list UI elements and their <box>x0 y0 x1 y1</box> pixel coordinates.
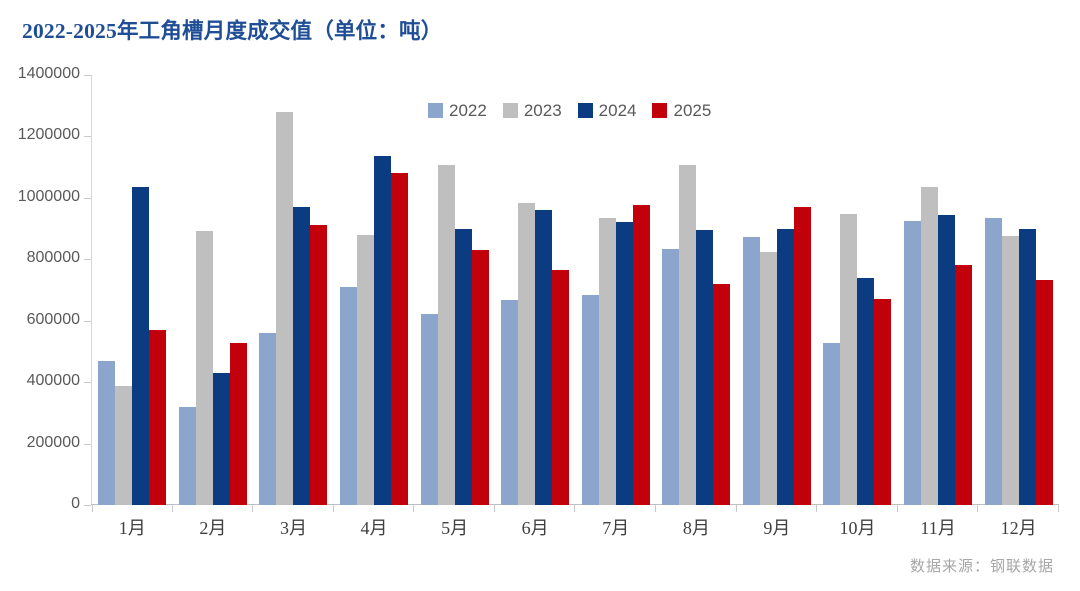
y-tick-mark <box>84 382 91 383</box>
bar-group-4月 <box>334 75 415 505</box>
x-axis-label-12月: 12月 <box>978 514 1059 540</box>
bar-2022-4月[interactable] <box>340 287 357 505</box>
y-tick-label: 1400000 <box>0 65 80 83</box>
bar-2023-3月[interactable] <box>276 112 293 505</box>
bar-2025-5月[interactable] <box>472 250 489 505</box>
bar-group-7月 <box>575 75 656 505</box>
y-tick-mark <box>84 444 91 445</box>
chart-container: 2022-2025年工角槽月度成交值（单位：吨） 202220232024202… <box>0 0 1080 591</box>
x-axis-label-7月: 7月 <box>575 514 656 540</box>
bar-2022-1月[interactable] <box>98 361 115 505</box>
bar-2025-1月[interactable] <box>149 330 166 505</box>
bar-2022-9月[interactable] <box>743 237 760 505</box>
bar-group-11月 <box>898 75 979 505</box>
bar-2022-6月[interactable] <box>501 300 518 505</box>
bar-2024-3月[interactable] <box>293 207 310 505</box>
x-axis-label-5月: 5月 <box>414 514 495 540</box>
bar-2024-5月[interactable] <box>455 229 472 505</box>
x-tick-mark <box>92 505 93 512</box>
y-axis-labels: 0200000400000600000800000100000012000001… <box>0 75 80 505</box>
x-tick-mark <box>574 505 575 512</box>
bar-2023-6月[interactable] <box>518 203 535 505</box>
bar-2024-12月[interactable] <box>1019 229 1036 505</box>
bar-2023-10月[interactable] <box>840 214 857 505</box>
x-axis-label-8月: 8月 <box>656 514 737 540</box>
x-axis-label-1月: 1月 <box>92 514 173 540</box>
y-tick-mark <box>84 259 91 260</box>
bar-2023-9月[interactable] <box>760 252 777 505</box>
x-axis-labels: 1月2月3月4月5月6月7月8月9月10月11月12月 <box>92 514 1059 540</box>
bar-2024-6月[interactable] <box>535 210 552 505</box>
x-axis-label-3月: 3月 <box>253 514 334 540</box>
bar-group-3月 <box>253 75 334 505</box>
source-note: 数据来源：钢联数据 <box>910 555 1054 576</box>
bar-2022-3月[interactable] <box>259 333 276 505</box>
x-axis-label-4月: 4月 <box>334 514 415 540</box>
bar-2025-10月[interactable] <box>874 299 891 505</box>
x-axis-label-11月: 11月 <box>898 514 979 540</box>
bar-2025-4月[interactable] <box>391 173 408 505</box>
bar-group-2月 <box>173 75 254 505</box>
bar-groups <box>92 75 1059 505</box>
bar-2024-2月[interactable] <box>213 373 230 505</box>
y-tick-mark <box>84 75 91 76</box>
y-tick-label: 600000 <box>0 311 80 329</box>
bar-2023-1月[interactable] <box>115 386 132 505</box>
bar-2024-4月[interactable] <box>374 156 391 505</box>
y-tick-label: 800000 <box>0 249 80 267</box>
bar-2022-8月[interactable] <box>662 249 679 505</box>
x-tick-mark <box>655 505 656 512</box>
bar-2024-7月[interactable] <box>616 222 633 505</box>
bar-2025-3月[interactable] <box>310 225 327 505</box>
bar-2023-11月[interactable] <box>921 187 938 505</box>
bar-2024-8月[interactable] <box>696 230 713 505</box>
bar-2022-2月[interactable] <box>179 407 196 505</box>
y-tick-label: 200000 <box>0 434 80 452</box>
bar-2023-5月[interactable] <box>438 165 455 505</box>
bar-2025-7月[interactable] <box>633 205 650 505</box>
x-tick-mark <box>816 505 817 512</box>
bar-group-12月 <box>978 75 1059 505</box>
y-tick-label: 1200000 <box>0 126 80 144</box>
bar-2024-11月[interactable] <box>938 215 955 505</box>
y-tick-label: 400000 <box>0 372 80 390</box>
bar-2025-8月[interactable] <box>713 284 730 505</box>
x-axis-label-10月: 10月 <box>817 514 898 540</box>
x-tick-mark <box>977 505 978 512</box>
x-axis-label-2月: 2月 <box>173 514 254 540</box>
bar-2022-11月[interactable] <box>904 221 921 505</box>
y-tick-label: 0 <box>0 495 80 513</box>
bar-group-6月 <box>495 75 576 505</box>
bar-2025-6月[interactable] <box>552 270 569 505</box>
x-tick-mark <box>413 505 414 512</box>
y-tick-mark <box>84 321 91 322</box>
bar-group-8月 <box>656 75 737 505</box>
bar-2024-10月[interactable] <box>857 278 874 505</box>
bar-2023-4月[interactable] <box>357 235 374 505</box>
x-tick-mark <box>252 505 253 512</box>
x-tick-mark <box>333 505 334 512</box>
bar-2022-5月[interactable] <box>421 314 438 505</box>
bar-2022-12月[interactable] <box>985 218 1002 505</box>
x-tick-mark <box>1058 505 1059 512</box>
bar-group-1月 <box>92 75 173 505</box>
bar-2024-9月[interactable] <box>777 229 794 505</box>
bar-2023-12月[interactable] <box>1002 236 1019 505</box>
bar-group-10月 <box>817 75 898 505</box>
y-tick-label: 1000000 <box>0 188 80 206</box>
x-axis-label-9月: 9月 <box>737 514 818 540</box>
x-tick-mark <box>172 505 173 512</box>
bar-2023-2月[interactable] <box>196 231 213 505</box>
bar-2025-12月[interactable] <box>1036 280 1053 505</box>
bar-2024-1月[interactable] <box>132 187 149 505</box>
bar-2025-11月[interactable] <box>955 265 972 505</box>
y-tick-mark <box>84 136 91 137</box>
bar-2023-7月[interactable] <box>599 218 616 505</box>
bar-2022-10月[interactable] <box>823 343 840 505</box>
x-axis-label-6月: 6月 <box>495 514 576 540</box>
bar-2025-9月[interactable] <box>794 207 811 505</box>
y-tick-mark <box>84 505 91 506</box>
y-tick-mark <box>84 198 91 199</box>
bar-2025-2月[interactable] <box>230 343 247 505</box>
x-tick-mark <box>736 505 737 512</box>
chart-title: 2022-2025年工角槽月度成交值（单位：吨） <box>22 14 442 45</box>
bar-group-5月 <box>414 75 495 505</box>
bar-2023-8月[interactable] <box>679 165 696 505</box>
bar-2022-7月[interactable] <box>582 295 599 505</box>
x-tick-mark <box>494 505 495 512</box>
x-tick-mark <box>897 505 898 512</box>
plot-area <box>91 75 1059 505</box>
bar-group-9月 <box>737 75 818 505</box>
